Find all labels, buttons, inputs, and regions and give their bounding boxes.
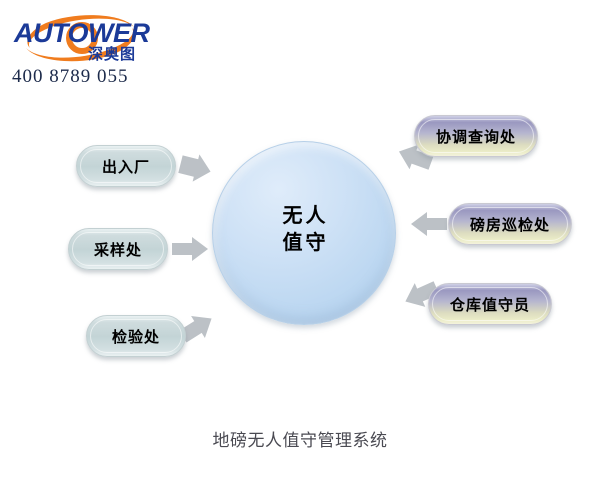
node-cangkuzhishouyuan-label: 仓库值守员	[450, 294, 530, 315]
node-jianyanchu-label: 检验处	[112, 326, 160, 347]
node-jianyanchu[interactable]: 检验处	[86, 315, 186, 357]
node-churuchang-label: 出入厂	[102, 156, 150, 177]
company-logo: AUTOWER 深奥图	[14, 12, 154, 64]
center-node-unattended[interactable]: 无人 值守	[212, 141, 396, 325]
center-node-label: 无人 值守	[213, 202, 395, 256]
center-node-label-line2: 值守	[213, 229, 395, 256]
node-xietiaochaxunchu-label: 协调查询处	[436, 126, 516, 147]
logo-chinese-name: 深奥图	[88, 43, 136, 64]
node-churuchang[interactable]: 出入厂	[76, 145, 176, 187]
center-node-label-line1: 无人	[213, 202, 395, 229]
node-caiyangchu-label: 采样处	[94, 239, 142, 260]
node-caiyangchu[interactable]: 采样处	[68, 228, 168, 270]
arrow-outflow-churuchang	[177, 151, 214, 186]
diagram-caption: 地磅无人值守管理系统	[0, 426, 600, 451]
node-pangfangxunjianchu[interactable]: 磅房巡检处	[448, 203, 572, 245]
node-xietiaochaxunchu[interactable]: 协调查询处	[414, 115, 538, 157]
arrow-outflow-caiyangchu	[172, 237, 208, 261]
arrow-inflow-pangfangxunjianchu	[411, 212, 447, 236]
node-cangkuzhishouyuan[interactable]: 仓库值守员	[428, 283, 552, 325]
node-pangfangxunjianchu-label: 磅房巡检处	[470, 214, 550, 235]
